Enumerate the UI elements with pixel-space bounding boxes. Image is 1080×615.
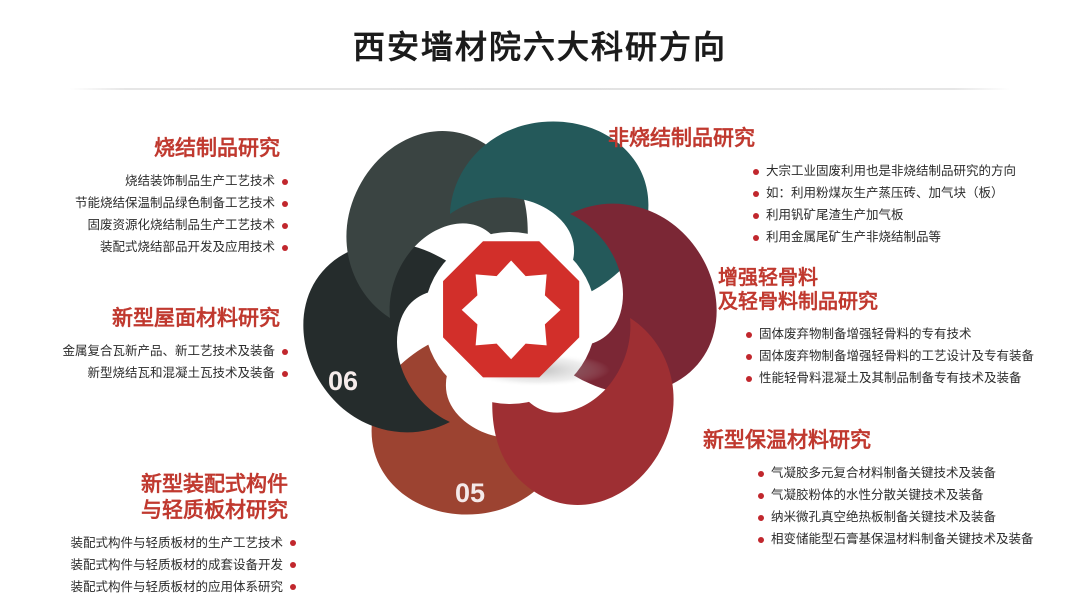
bullet-dot-icon: [290, 562, 296, 568]
item-text: 固体废弃物制备增强轻骨料的工艺设计及专有装备: [759, 347, 1034, 366]
item-text: 利用钒矿尾渣生产加气板: [766, 206, 904, 225]
bullet-dot-icon: [282, 371, 288, 377]
bullet-dot-icon: [290, 540, 296, 546]
bullet-dot-icon: [746, 332, 752, 338]
bullet-dot-icon: [282, 223, 288, 229]
section-06-items: 金属复合瓦新产品、新工艺技术及装备 新型烧结瓦和混凝土瓦技术及装备: [8, 341, 288, 385]
list-item: 气凝胶多元复合材料制备关键技术及装备: [758, 463, 1075, 485]
petal-label-05: 05: [455, 478, 485, 508]
section-05-items: 装配式构件与轻质板材的生产工艺技术 装配式构件与轻质板材的成套设备开发 装配式构…: [8, 532, 296, 598]
list-item: 大宗工业固废利用也是非烧结制品研究的方向: [753, 161, 1028, 183]
section-04-heading: 新型保温材料研究: [703, 428, 1075, 454]
item-text: 新型烧结瓦和混凝土瓦技术及装备: [87, 364, 275, 383]
section-01-items: 烧结装饰制品生产工艺技术 节能烧结保温制品绿色制备工艺技术 固废资源化烧结制品生…: [20, 171, 288, 259]
list-item: 装配式构件与轻质板材的应用体系研究: [8, 576, 296, 598]
item-text: 大宗工业固废利用也是非烧结制品研究的方向: [766, 162, 1016, 181]
section-03-heading-line1: 增强轻骨料: [718, 266, 1078, 290]
section-03: 增强轻骨料 及轻骨料制品研究 固体废弃物制备增强轻骨料的专有技术 固体废弃物制备…: [718, 266, 1078, 390]
section-04: 新型保温材料研究 气凝胶多元复合材料制备关键技术及装备 气凝胶粉体的水性分散关键…: [703, 428, 1075, 551]
section-05-heading: 新型装配式构件 与轻质板材研究: [8, 472, 296, 523]
list-item: 利用金属尾矿生产非烧结制品等: [753, 227, 1028, 249]
item-text: 节能烧结保温制品绿色制备工艺技术: [75, 194, 275, 213]
section-01: 烧结制品研究 烧结装饰制品生产工艺技术 节能烧结保温制品绿色制备工艺技术 固废资…: [20, 136, 288, 259]
list-item: 装配式构件与轻质板材的生产工艺技术: [8, 532, 296, 554]
petal-label-06: 06: [328, 366, 358, 396]
bullet-dot-icon: [282, 179, 288, 185]
bullet-dot-icon: [758, 537, 764, 543]
section-03-heading-line2: 及轻骨料制品研究: [718, 290, 1078, 314]
section-06: 新型屋面材料研究 金属复合瓦新产品、新工艺技术及装备 新型烧结瓦和混凝土瓦技术及…: [8, 306, 288, 385]
bullet-dot-icon: [753, 169, 759, 175]
item-text: 相变储能型石膏基保温材料制备关键技术及装备: [771, 530, 1034, 549]
page-title: 西安墙材院六大科研方向: [0, 22, 1080, 68]
section-03-heading: 增强轻骨料 及轻骨料制品研究: [718, 266, 1078, 315]
item-text: 如：利用粉煤灰生产蒸压砖、加气块（板）: [766, 184, 1004, 203]
item-text: 气凝胶粉体的水性分散关键技术及装备: [771, 486, 984, 505]
bullet-dot-icon: [753, 235, 759, 241]
bullet-dot-icon: [753, 191, 759, 197]
section-04-items: 气凝胶多元复合材料制备关键技术及装备 气凝胶粉体的水性分散关键技术及装备 纳米微…: [758, 463, 1075, 551]
item-text: 烧结装饰制品生产工艺技术: [125, 172, 275, 191]
list-item: 金属复合瓦新产品、新工艺技术及装备: [8, 341, 288, 363]
item-text: 装配式构件与轻质板材的生产工艺技术: [70, 534, 283, 553]
section-05-heading-line2: 与轻质板材研究: [8, 498, 288, 524]
section-02-items: 大宗工业固废利用也是非烧结制品研究的方向 如：利用粉煤灰生产蒸压砖、加气块（板）…: [753, 161, 1028, 249]
list-item: 气凝胶粉体的水性分散关键技术及装备: [758, 485, 1075, 507]
list-item: 节能烧结保温制品绿色制备工艺技术: [20, 193, 288, 215]
section-05-heading-line1: 新型装配式构件: [8, 472, 288, 498]
bullet-dot-icon: [746, 354, 752, 360]
section-06-heading: 新型屋面材料研究: [8, 306, 288, 332]
title-divider: [70, 88, 1010, 90]
section-05: 新型装配式构件 与轻质板材研究 装配式构件与轻质板材的生产工艺技术 装配式构件与…: [8, 472, 296, 598]
item-text: 装配式烧结部品开发及应用技术: [100, 238, 275, 257]
bullet-dot-icon: [282, 349, 288, 355]
bullet-dot-icon: [753, 213, 759, 219]
list-item: 装配式烧结部品开发及应用技术: [20, 237, 288, 259]
list-item: 固体废弃物制备增强轻骨料的专有技术: [746, 324, 1078, 346]
bullet-dot-icon: [746, 376, 752, 382]
section-02-heading: 非烧结制品研究: [608, 126, 1028, 152]
item-text: 固废资源化烧结制品生产工艺技术: [87, 216, 275, 235]
list-item: 固废资源化烧结制品生产工艺技术: [20, 215, 288, 237]
list-item: 装配式构件与轻质板材的成套设备开发: [8, 554, 296, 576]
list-item: 固体废弃物制备增强轻骨料的工艺设计及专有装备: [746, 346, 1078, 368]
list-item: 新型烧结瓦和混凝土瓦技术及装备: [8, 363, 288, 385]
section-02: 非烧结制品研究 大宗工业固废利用也是非烧结制品研究的方向 如：利用粉煤灰生产蒸压…: [608, 126, 1028, 249]
list-item: 性能轻骨料混凝土及其制品制备专有技术及装备: [746, 368, 1078, 390]
item-text: 固体废弃物制备增强轻骨料的专有技术: [759, 325, 972, 344]
item-text: 气凝胶多元复合材料制备关键技术及装备: [771, 464, 996, 483]
bullet-dot-icon: [758, 471, 764, 477]
bullet-dot-icon: [758, 515, 764, 521]
item-text: 金属复合瓦新产品、新工艺技术及装备: [62, 342, 275, 361]
list-item: 如：利用粉煤灰生产蒸压砖、加气块（板）: [753, 183, 1028, 205]
list-item: 相变储能型石膏基保温材料制备关键技术及装备: [758, 529, 1075, 551]
section-01-heading: 烧结制品研究: [20, 136, 288, 162]
section-03-items: 固体废弃物制备增强轻骨料的专有技术 固体废弃物制备增强轻骨料的工艺设计及专有装备…: [746, 324, 1078, 390]
list-item: 纳米微孔真空绝热板制备关键技术及装备: [758, 507, 1075, 529]
list-item: 利用钒矿尾渣生产加气板: [753, 205, 1028, 227]
bullet-dot-icon: [282, 245, 288, 251]
item-text: 性能轻骨料混凝土及其制品制备专有技术及装备: [759, 369, 1022, 388]
list-item: 烧结装饰制品生产工艺技术: [20, 171, 288, 193]
bullet-dot-icon: [282, 201, 288, 207]
item-text: 装配式构件与轻质板材的应用体系研究: [70, 578, 283, 597]
bullet-dot-icon: [290, 584, 296, 590]
item-text: 装配式构件与轻质板材的成套设备开发: [70, 556, 283, 575]
item-text: 利用金属尾矿生产非烧结制品等: [766, 228, 941, 247]
bullet-dot-icon: [758, 493, 764, 499]
item-text: 纳米微孔真空绝热板制备关键技术及装备: [771, 508, 996, 527]
infographic-page: 西安墙材院六大科研方向 01 02 03: [0, 0, 1080, 615]
